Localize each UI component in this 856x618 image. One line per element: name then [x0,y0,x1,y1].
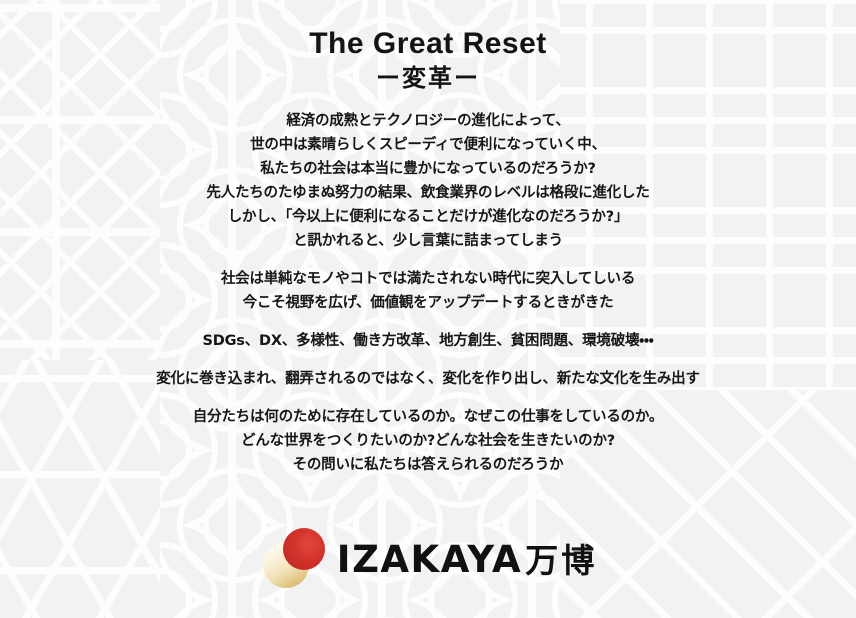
body-line: 私たちの社会は本当に豊かになっているのだろうか? [0,157,856,181]
page-title-english: The Great Reset [309,26,547,61]
red-circle-icon [283,528,325,570]
body-line: しかし、「今以上に便利になることだけが進化なのだろうか?」 [0,205,856,229]
page-title-japanese: ー変革ー [309,63,547,94]
paragraph-era: 社会は単純なモノやコトでは満たされない時代に突入してしいる 今こそ視野を広げ、価… [0,267,856,315]
paragraph-spacer [0,391,856,405]
paragraph-spacer [0,315,856,329]
body-line: SDGs、DX、多様性、働き方改革、地方創生、貧困問題、環境破壊・・・ [0,329,856,353]
logo-wordmark-latin: IZAKAYA [337,541,522,578]
title-block: The Great Reset ー変革ー [309,26,547,95]
body-line: 今こそ視野を広げ、価値観をアップデートするときがきた [0,291,856,315]
paragraph-spacer [0,353,856,367]
body-line: 先人たちのたゆまぬ努力の結果、飲食業界のレベルは格段に進化した [0,181,856,205]
body-line: その問いに私たちは答えられるのだろうか [0,453,856,477]
body-line: どんな世界をつくりたいのか?どんな社会を生きたいのか? [0,429,856,453]
paragraph-intro: 経済の成熟とテクノロジーの進化によって、 世の中は素晴らしくスピーディで便利にな… [0,109,856,253]
logo-wordmark-japanese: 万博 [525,544,597,577]
body-line: 変化に巻き込まれ、翻弄されるのではなく、変化を作り出し、新たな文化を生み出す [0,367,856,391]
body-line: 経済の成熟とテクノロジーの進化によって、 [0,109,856,133]
poster-content: The Great Reset ー変革ー 経済の成熟とテクノロジーの進化によって… [0,0,856,618]
paragraph-spacer [0,253,856,267]
body-line: 社会は単純なモノやコトでは満たされない時代に突入してしいる [0,267,856,291]
logo-wordmark: IZAKAYA 万博 [337,541,597,578]
poster-canvas: The Great Reset ー変革ー 経済の成熟とテクノロジーの進化によって… [0,0,856,618]
paragraph-questions: 自分たちは何のために存在しているのか。なぜこの仕事をしているのか。 どんな世界を… [0,405,856,477]
body-line: 自分たちは何のために存在しているのか。なぜこの仕事をしているのか。 [0,405,856,429]
logo-mark-icon [259,528,331,590]
brand-logo: IZAKAYA 万博 [259,528,597,590]
body-copy: 経済の成熟とテクノロジーの進化によって、 世の中は素晴らしくスピーディで便利にな… [0,109,856,477]
body-line: と訊かれると、少し言葉に詰まってしまう [0,229,856,253]
paragraph-statement: 変化に巻き込まれ、翻弄されるのではなく、変化を作り出し、新たな文化を生み出す [0,367,856,391]
body-line: 世の中は素晴らしくスピーディで便利になっていく中、 [0,133,856,157]
paragraph-keywords: SDGs、DX、多様性、働き方改革、地方創生、貧困問題、環境破壊・・・ [0,329,856,353]
